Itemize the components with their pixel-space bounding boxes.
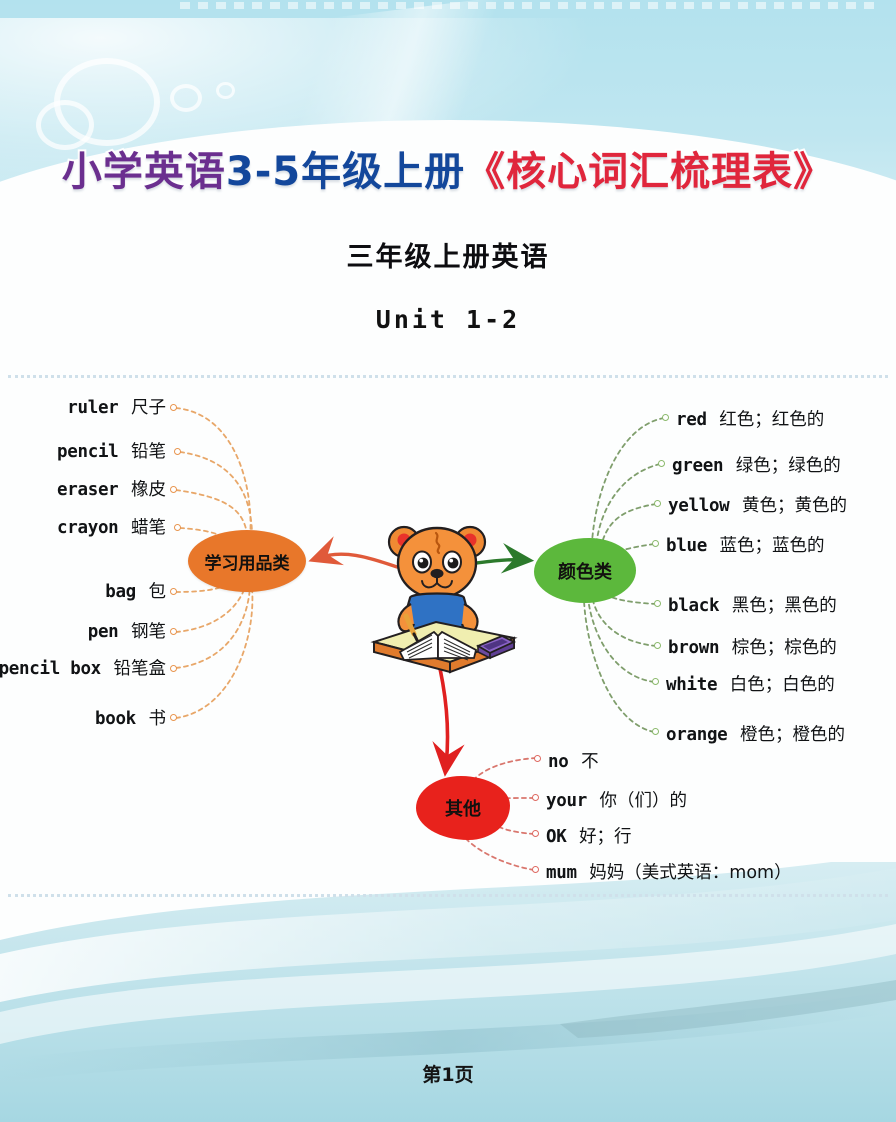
list-item[interactable]: your 你（们）的 [546, 787, 687, 812]
word-cn: 书 [149, 709, 167, 729]
page-title-part-2: 3-5 [226, 149, 301, 195]
branch-node-colors[interactable]: 颜色类 [534, 538, 636, 603]
word-en: no [548, 752, 568, 772]
connector-dot [532, 794, 539, 801]
list-item[interactable]: green 绿色；绿色的 [672, 452, 841, 477]
unit-title: Unit 1-2 [0, 305, 896, 334]
connector-dot [532, 830, 539, 837]
word-en: mum [546, 863, 577, 883]
list-item[interactable]: OK 好；行 [546, 823, 632, 848]
connector-dot [170, 486, 177, 493]
bubble-ring-tiny-icon [216, 82, 235, 99]
connector-dot [532, 866, 539, 873]
word-en: brown [668, 638, 719, 658]
connector-dot [652, 728, 659, 735]
word-en: pen [88, 622, 119, 642]
word-cn: 尺子 [131, 398, 166, 418]
word-cn: 绿色；绿色的 [736, 456, 841, 476]
connector-dot [652, 678, 659, 685]
page-title-part-4: 《核心词汇梳理表》 [465, 149, 834, 195]
list-item[interactable]: bag 包 [105, 578, 166, 603]
list-item[interactable]: orange 橙色；橙色的 [666, 721, 845, 746]
list-item[interactable]: mum 妈妈（美式英语：mom） [546, 859, 792, 884]
list-item[interactable]: no 不 [548, 748, 599, 773]
connector-dot [654, 500, 661, 507]
word-en: black [668, 596, 719, 616]
word-en: green [672, 456, 723, 476]
branch-node-other[interactable]: 其他 [416, 776, 510, 840]
page-title-part-3: 年级上册 [301, 149, 465, 195]
word-en: orange [666, 725, 727, 745]
word-cn: 黑色；黑色的 [732, 596, 837, 616]
branch-node-other-label: 其他 [445, 795, 481, 821]
list-item[interactable]: pencil 铅笔 [57, 438, 166, 463]
word-en: crayon [57, 518, 118, 538]
word-cn: 橙色；橙色的 [740, 725, 845, 745]
connector-dot [170, 588, 177, 595]
branch-node-supplies-label: 学习用品类 [205, 549, 290, 574]
connector-dot [174, 448, 181, 455]
page-canvas: 小学英语3-5年级上册《核心词汇梳理表》 三年级上册英语 Unit 1-2 [0, 0, 896, 1122]
list-item[interactable]: white 白色；白色的 [666, 671, 835, 696]
word-en: book [95, 709, 136, 729]
list-item[interactable]: ruler 尺子 [67, 394, 166, 419]
word-cn: 包 [149, 582, 167, 602]
mindmap-container: 学习用品类 颜色类 其他 ruler 尺子 pencil 铅笔 eraser 橡… [0, 370, 896, 900]
page-number: 第1页 [0, 1060, 896, 1087]
word-cn: 棕色；棕色的 [732, 638, 837, 658]
connector-dot [170, 628, 177, 635]
bubble-ring-small-icon [170, 84, 202, 112]
word-en: pencil [57, 442, 118, 462]
connector-dot [652, 540, 659, 547]
word-en: eraser [57, 480, 118, 500]
list-item[interactable]: crayon 蜡笔 [57, 514, 166, 539]
word-cn: 橡皮 [131, 480, 166, 500]
connector-dot [170, 665, 177, 672]
list-item[interactable]: pencil box 铅笔盒 [0, 655, 166, 680]
list-item[interactable]: blue 蓝色；蓝色的 [666, 532, 825, 557]
connector-dot [654, 600, 661, 607]
word-cn: 白色；白色的 [730, 675, 835, 695]
word-cn: 你（们）的 [600, 791, 688, 811]
word-cn: 不 [581, 752, 599, 772]
list-item[interactable]: black 黑色；黑色的 [668, 592, 837, 617]
list-item[interactable]: eraser 橡皮 [57, 476, 166, 501]
word-cn: 红色；红色的 [719, 410, 824, 430]
word-en: OK [546, 827, 566, 847]
list-item[interactable]: yellow 黄色；黄色的 [668, 492, 847, 517]
word-cn: 铅笔 [131, 442, 166, 462]
word-cn: 钢笔 [131, 622, 166, 642]
word-en: your [546, 791, 587, 811]
bear-studying-illustration [352, 500, 534, 690]
page-title: 小学英语3-5年级上册《核心词汇梳理表》 [0, 152, 896, 192]
connector-dot [654, 642, 661, 649]
word-cn: 好；行 [579, 827, 632, 847]
top-dash-decoration [180, 2, 880, 9]
word-en: yellow [668, 496, 729, 516]
word-en: red [676, 410, 707, 430]
word-en: blue [666, 536, 707, 556]
connector-dot [174, 524, 181, 531]
word-en: white [666, 675, 717, 695]
list-item[interactable]: brown 棕色；棕色的 [668, 634, 837, 659]
subtitle: 三年级上册英语 [0, 235, 896, 274]
connector-dot [662, 414, 669, 421]
word-en: ruler [67, 398, 118, 418]
word-cn: 黄色；黄色的 [742, 496, 847, 516]
list-item[interactable]: book 书 [95, 705, 166, 730]
word-cn: 蜡笔 [131, 518, 166, 538]
word-cn: 蓝色；蓝色的 [720, 536, 825, 556]
word-cn: 铅笔盒 [114, 659, 167, 679]
connector-dot [534, 755, 541, 762]
page-title-part-1: 小学英语 [62, 149, 226, 195]
branch-node-supplies[interactable]: 学习用品类 [188, 530, 306, 592]
bubble-ring-medium-icon [36, 100, 94, 150]
connector-dot [658, 460, 665, 467]
word-cn: 妈妈（美式英语：mom） [589, 863, 791, 883]
connector-dot [170, 404, 177, 411]
word-en: bag [105, 582, 136, 602]
list-item[interactable]: red 红色；红色的 [676, 406, 824, 431]
word-en: pencil box [0, 659, 101, 679]
branch-node-colors-label: 颜色类 [558, 558, 612, 584]
connector-dot [170, 714, 177, 721]
list-item[interactable]: pen 钢笔 [88, 618, 166, 643]
